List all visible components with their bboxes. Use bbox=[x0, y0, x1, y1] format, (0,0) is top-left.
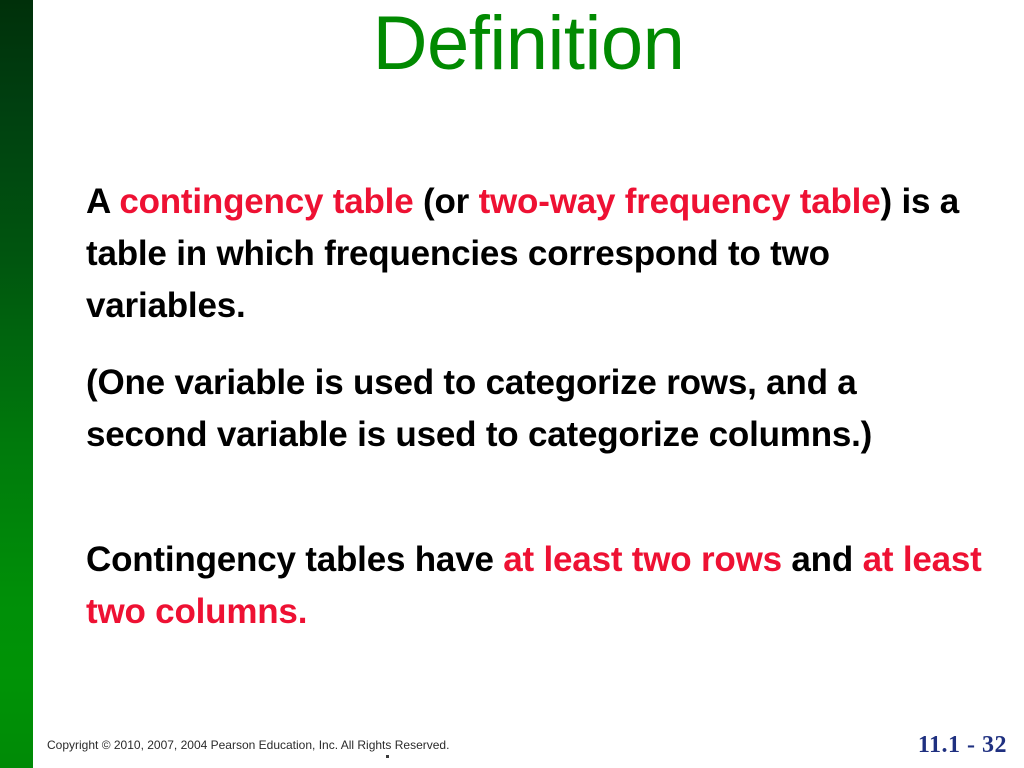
slide-canvas: Definition A contingency table (or two-w… bbox=[0, 0, 1024, 768]
footer-dot-artifact bbox=[386, 755, 389, 758]
requirement-text-part-2: and bbox=[782, 540, 863, 579]
requirement-text-part-1: Contingency tables have bbox=[86, 540, 503, 579]
green-gradient-bar bbox=[0, 0, 33, 768]
term-two-way-frequency-table: two-way frequency table bbox=[479, 182, 881, 221]
copyright-notice: Copyright © 2010, 2007, 2004 Pearson Edu… bbox=[47, 738, 449, 752]
page-title: Definition bbox=[33, 6, 1024, 82]
definition-paragraph: A contingency table (or two-way frequenc… bbox=[86, 176, 986, 332]
clarification-text: (One variable is used to categorize rows… bbox=[86, 363, 872, 454]
definition-text-part-1: A bbox=[86, 182, 119, 221]
slide-number: 11.1 - 32 bbox=[918, 732, 1007, 759]
definition-text-part-2: (or bbox=[413, 182, 478, 221]
requirement-paragraph: Contingency tables have at least two row… bbox=[86, 534, 986, 638]
term-contingency-table: contingency table bbox=[119, 182, 413, 221]
slide-body: A contingency table (or two-way frequenc… bbox=[86, 176, 998, 638]
requirement-min-rows: at least two rows bbox=[503, 540, 782, 579]
clarification-paragraph: (One variable is used to categorize rows… bbox=[86, 357, 986, 461]
